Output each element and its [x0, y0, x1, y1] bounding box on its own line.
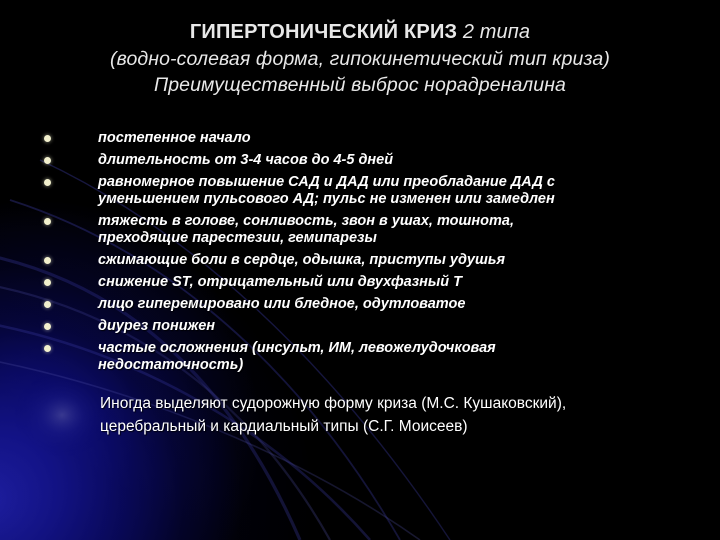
list-item-line: частые осложнения (инсульт, ИМ, левожелу… [98, 340, 660, 357]
title-line-2: (водно-солевая форма, гипокинетический т… [0, 47, 720, 72]
slide-title: ГИПЕРТОНИЧЕСКИЙ КРИЗ 2 типа (водно-солев… [0, 20, 720, 98]
list-item-line: диурез понижен [98, 318, 660, 335]
list-item: частые осложнения (инсульт, ИМ, левожелу… [40, 340, 660, 374]
presentation-slide: ГИПЕРТОНИЧЕСКИЙ КРИЗ 2 типа (водно-солев… [0, 0, 720, 540]
list-item: длительность от 3-4 часов до 4-5 дней [40, 152, 660, 169]
bullet-dot-icon [44, 279, 51, 286]
list-item-line: лицо гиперемировано или бледное, одутлов… [98, 296, 660, 313]
list-item-line: тяжесть в голове, сонливость, звон в уша… [98, 213, 660, 230]
list-item-line: недостаточность) [98, 357, 660, 374]
list-item-line: равномерное повышение САД и ДАД или прео… [98, 174, 660, 191]
symptom-bullet-list: постепенное начало длительность от 3-4 ч… [40, 130, 660, 379]
bullet-dot-icon [44, 345, 51, 352]
list-item: снижение ST, отрицательный или двухфазны… [40, 274, 660, 291]
list-item: тяжесть в голове, сонливость, звон в уша… [40, 213, 660, 247]
title-line-3: Преимущественный выброс норадреналина [0, 73, 720, 98]
title-subtype: 2 типа [457, 21, 530, 43]
bullet-dot-icon [44, 218, 51, 225]
list-item-line: длительность от 3-4 часов до 4-5 дней [98, 152, 660, 169]
list-item-line: преходящие парестезии, гемипарезы [98, 230, 660, 247]
bullet-dot-icon [44, 257, 51, 264]
bullet-dot-icon [44, 323, 51, 330]
closing-note-line: Иногда выделяют судорожную форму криза (… [100, 393, 680, 416]
bullet-dot-icon [44, 157, 51, 164]
bullet-dot-icon [44, 179, 51, 186]
closing-note: Иногда выделяют судорожную форму криза (… [100, 393, 680, 438]
list-item: постепенное начало [40, 130, 660, 147]
list-item-line: сжимающие боли в сердце, одышка, приступ… [98, 252, 660, 269]
bullet-dot-icon [44, 135, 51, 142]
bullet-dot-icon [44, 301, 51, 308]
title-line-1: ГИПЕРТОНИЧЕСКИЙ КРИЗ 2 типа [0, 20, 720, 45]
closing-note-line: церебральный и кардиальный типы (С.Г. Мо… [100, 416, 680, 439]
list-item: сжимающие боли в сердце, одышка, приступ… [40, 252, 660, 269]
list-item: равномерное повышение САД и ДАД или прео… [40, 174, 660, 208]
list-item-line: снижение ST, отрицательный или двухфазны… [98, 274, 660, 291]
list-item-line: постепенное начало [98, 130, 660, 147]
title-main-heading: ГИПЕРТОНИЧЕСКИЙ КРИЗ [190, 21, 457, 43]
list-item-line: уменьшением пульсового АД; пульс не изме… [98, 191, 660, 208]
list-item: лицо гиперемировано или бледное, одутлов… [40, 296, 660, 313]
list-item: диурез понижен [40, 318, 660, 335]
